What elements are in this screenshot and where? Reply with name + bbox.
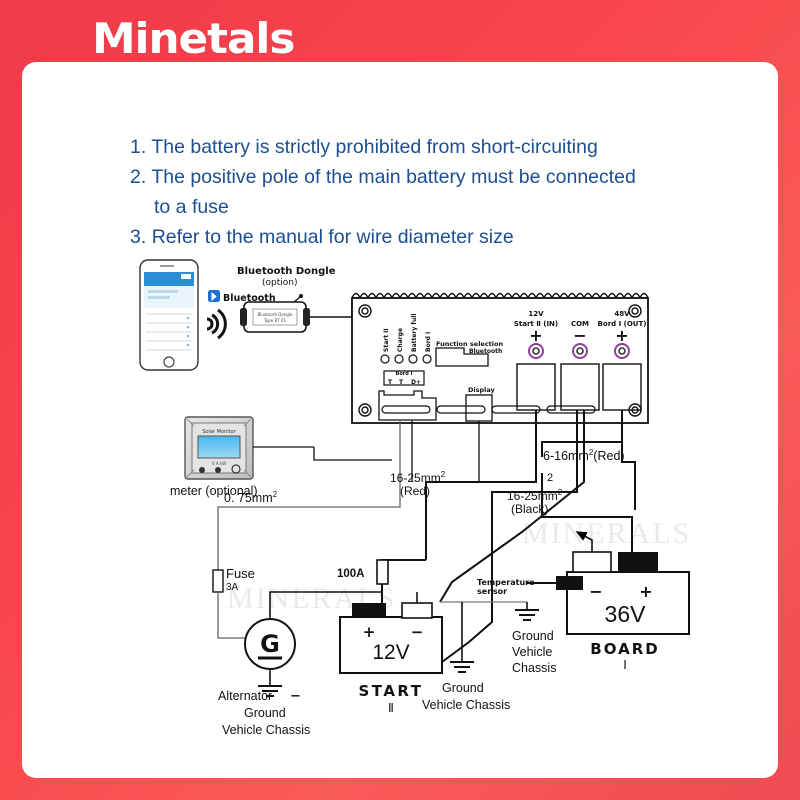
alternator: G [245,619,295,669]
wire-1625-red [426,410,536,560]
battery-start-voltage: 12V [372,641,409,664]
wire-label-1625-red-line2: (Red) [400,484,430,498]
alternator-symbol: G [260,630,280,658]
meter-screen-title: Solar Monitor [202,429,236,435]
battery-board-roman: Ⅰ [623,658,627,672]
battery-start-negative-post [402,603,432,618]
smartphone [140,260,198,370]
device-bluetooth-label: Bluetooth [469,348,502,355]
led-label-start-ii: Start II [383,328,390,352]
terminal-sign: − [573,326,586,345]
terminal-sign: + [615,326,628,345]
dongle-body-line2: Type BT 01 [263,318,286,323]
bord-i-block-title: Bord I [396,371,413,377]
battery-start-name: START [358,682,423,700]
led-label-charge: Charge [397,328,404,352]
battery-board-name: BOARD [590,640,659,658]
battery-board-negative-post [556,576,583,590]
dongle-title: Bluetooth Dongle [237,266,336,277]
dongle-body-line1: Bluetooth Dongle [258,312,293,317]
ground-start-line2: Vehicle Chassis [422,698,510,712]
meter-screen-labels: V A kW [212,461,226,466]
battery-board-36v: − + 36V [556,552,689,634]
battery-board-positive-post [618,552,658,572]
fuse-3a [213,570,223,592]
ground-board-line3: Chassis [512,661,556,675]
battery-board-left-sign: − [589,582,602,601]
function-selection-label: Function selection [436,340,503,348]
display-port-label: Display [468,386,496,394]
wire-label-616-red: 6-16mm2(Red) [543,448,625,463]
ground-symbol-board [515,610,539,620]
terminal-voltage: 12V [528,310,544,318]
pin-label-dplus: D+ [411,379,421,386]
wire-label-1625-red-line1: 16-25mm2 [390,470,446,485]
bluetooth-signal-icon [207,310,225,338]
battery-start-left-sign: + [363,623,376,641]
meter-button-right[interactable] [215,467,221,473]
brand-logo: Minetals [92,14,294,63]
page-background: Minetals 1. The battery is strictly proh… [0,0,800,800]
wiring-diagram: MINERALS MINERALS [22,62,778,778]
fuse-3a-label: Fuse [226,566,255,581]
content-card: 1. The battery is strictly prohibited fr… [22,62,778,778]
ground-alternator-line1: Ground [244,706,286,720]
ground-alternator-line2: Vehicle Chassis [222,723,310,737]
wire-label-1625-black-line1: 16-25mm2 [507,488,563,503]
ground-start-line1: Ground [442,681,484,695]
marker-two: 2 [547,472,553,484]
battery-board-voltage: 36V [605,601,647,627]
temperature-sensor-label-line1: Temperature [477,578,535,587]
alternator-minus-sign: − [290,689,301,704]
ground-board-line2: Vehicle [512,645,552,659]
fuse-100a [377,560,388,584]
dongle-subtitle: (option) [262,278,297,288]
fuse-3a-rating: 3A [226,582,239,593]
ground-board-line1: Ground [512,629,554,643]
charger-device-unit: Start II Charge Battery full Bord I Func… [352,294,648,424]
bluetooth-logo-icon [208,290,220,302]
battery-start-12v: + − 12V [340,603,442,673]
battery-start-right-sign: − [411,623,424,641]
terminal-sign: + [529,326,542,345]
temperature-sensor-label-line2: sensor [477,587,507,596]
terminal-voltage: 48V [614,310,630,318]
meter-button-left[interactable] [199,467,205,473]
battery-start-positive-post [352,603,386,618]
led-label-bord-i: Bord I [425,332,432,352]
led-label-battery-full: Battery full [411,314,418,352]
wire-label-075: 0. 75mm2 [224,490,278,505]
ground-symbol-start [450,662,474,672]
solar-monitor-meter: Solar Monitor V A kW [185,417,253,479]
fuse-100a-rating: 100A [337,568,365,580]
battery-start-roman: Ⅱ [388,701,394,715]
battery-board-right-sign: + [639,582,652,601]
